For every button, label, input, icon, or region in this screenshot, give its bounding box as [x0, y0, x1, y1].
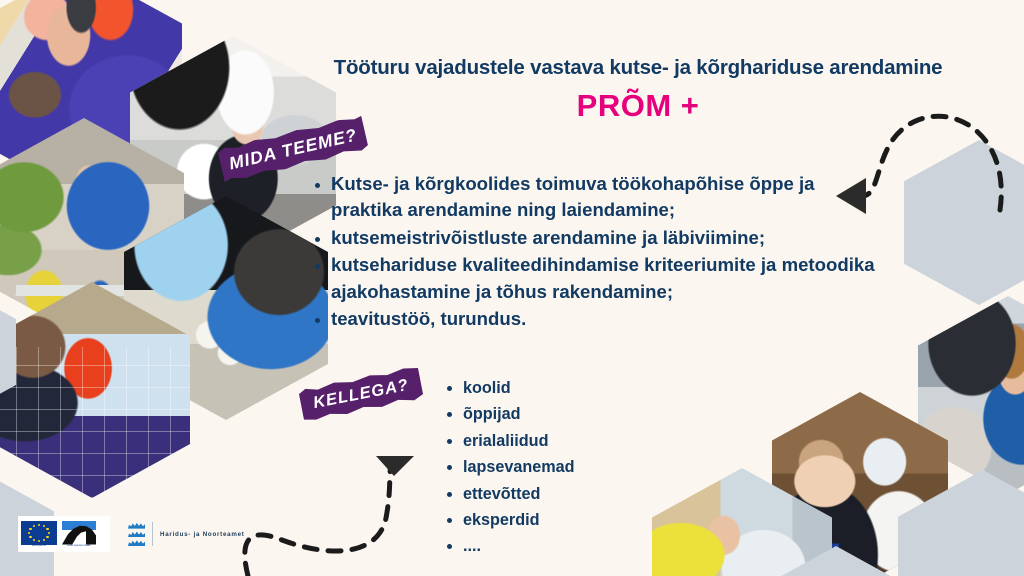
- list-item: ettevõtted: [443, 481, 693, 507]
- badge-with-whom: KELLEGA?: [298, 366, 424, 423]
- list-item: eksperdid: [443, 507, 693, 533]
- decor-hexagon-gray-top-right: [904, 140, 1024, 305]
- list-item: lapsevanemad: [443, 454, 693, 480]
- list-item: erialaliidud: [443, 428, 693, 454]
- list-item: ....: [443, 533, 693, 559]
- list-item: koolid: [443, 375, 693, 401]
- logo-bar: Euroopa Liit Eesti tuleviku heaks Haridu…: [18, 516, 245, 552]
- logo-divider: [152, 522, 153, 546]
- estonian-lions-icon: [128, 522, 145, 546]
- with-whom-list: koolid õppijad erialaliidud lapsevanemad…: [443, 375, 693, 560]
- agency-name-label: Haridus- ja Noorteamet: [160, 531, 245, 538]
- badge-with-whom-label: KELLEGA?: [312, 375, 411, 412]
- list-item: teavitustöö, turundus.: [311, 306, 886, 332]
- list-item: kutsemeistrivõistluste arendamine ja läb…: [311, 225, 886, 251]
- eu-logo-caption: Euroopa Liit: [21, 545, 57, 548]
- what-we-do-list: Kutse- ja kõrgkoolides toimuva töökohapõ…: [311, 171, 886, 333]
- slide-canvas: Tööturu vajadustele vastava kutse- ja kõ…: [0, 0, 1024, 576]
- european-union-flag-logo: Euroopa Liit Eesti tuleviku heaks: [18, 516, 110, 552]
- page-title: Tööturu vajadustele vastava kutse- ja kõ…: [258, 56, 1018, 81]
- list-item: kutsehariduse kvaliteedihindamise kritee…: [311, 252, 886, 305]
- list-item: Kutse- ja kõrgkoolides toimuva töökohapõ…: [311, 171, 886, 224]
- eu-flag-icon: [21, 521, 57, 545]
- dashed-curved-arrow-pointing-up: [245, 456, 414, 576]
- estonia-future-emblem-icon: [62, 521, 96, 545]
- haridus-ja-noorteamet-logo: Haridus- ja Noorteamet: [128, 522, 245, 546]
- brand-name: PRÕM +: [258, 88, 1018, 124]
- list-item: õppijad: [443, 401, 693, 427]
- eu-emblem-caption: Eesti tuleviku heaks: [61, 545, 97, 548]
